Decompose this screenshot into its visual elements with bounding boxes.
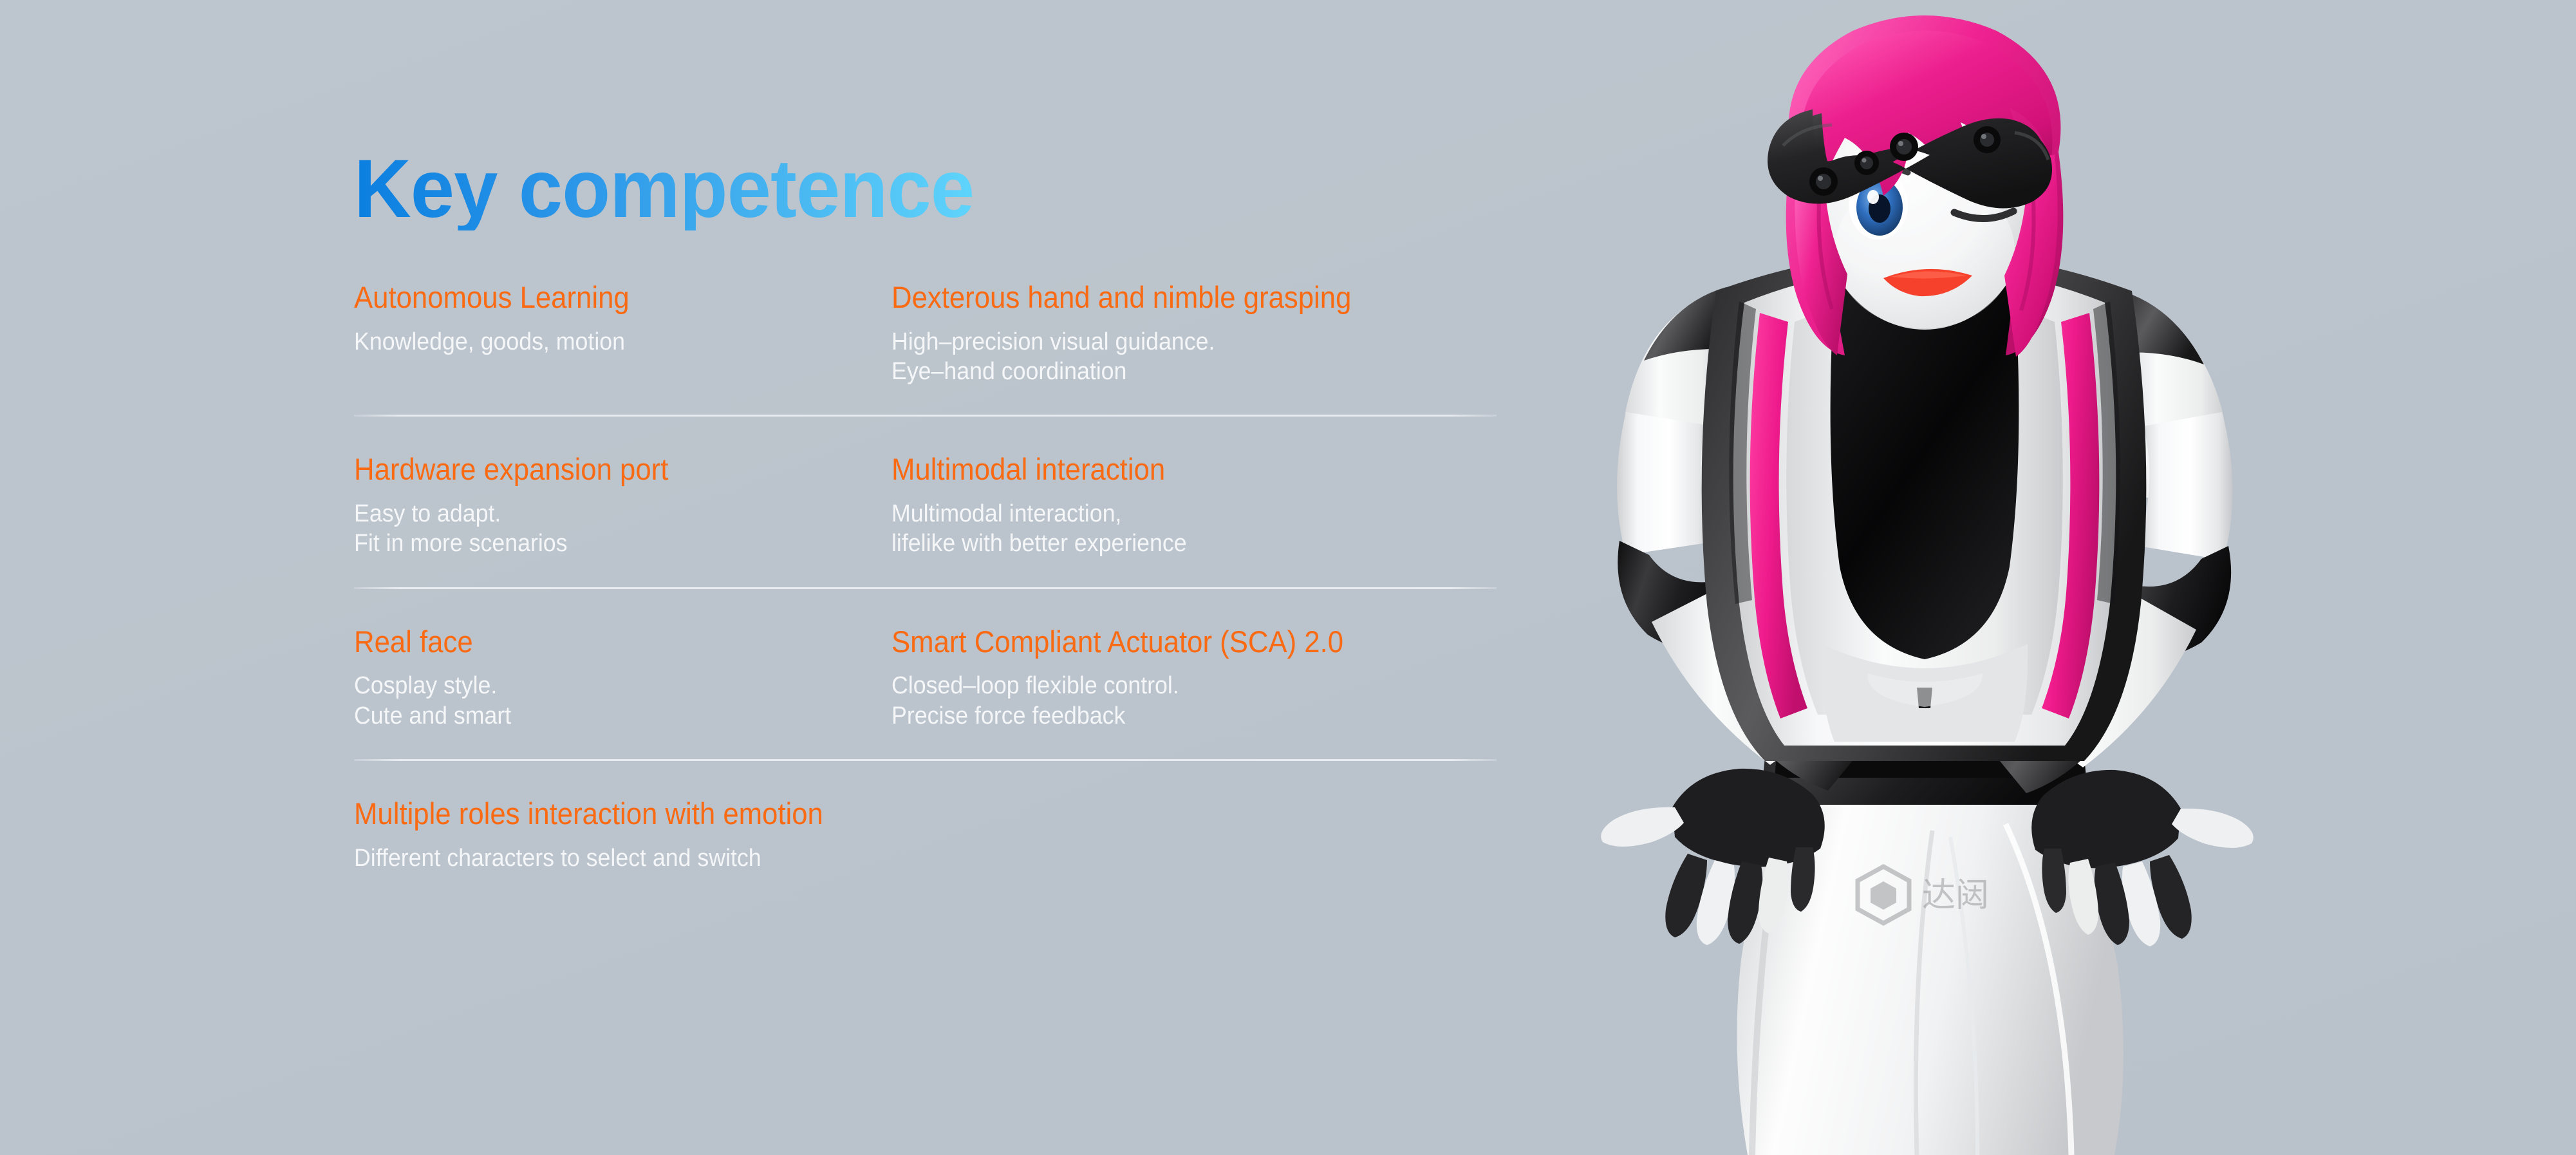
feature-description-line: Cosplay style.	[354, 671, 859, 700]
robot-eye-right-winking	[1952, 162, 2013, 218]
feature-description-line: Different characters to select and switc…	[354, 843, 1428, 873]
feature-description-line: Knowledge, goods, motion	[354, 327, 859, 357]
robot-hand-left	[1672, 769, 1825, 867]
feature-description-line: High–precision visual guidance.	[891, 327, 1461, 357]
robot-wink	[1954, 211, 2013, 219]
robot-pelvis	[1760, 702, 2089, 805]
feature-row: Autonomous Learning Knowledge, goods, mo…	[354, 281, 1497, 386]
feature-description: Multimodal interaction, lifelike with be…	[891, 499, 1461, 559]
feature-description: Knowledge, goods, motion	[354, 327, 859, 357]
feature-description-line: Precise force feedback	[891, 701, 1461, 731]
feature-description-line: Cute and smart	[354, 701, 859, 731]
slide-canvas: Key competence Autonomous Learning Knowl…	[0, 0, 2576, 1155]
feature-row: Hardware expansion port Easy to adapt. F…	[354, 453, 1497, 558]
feature-description-line: lifelike with better experience	[891, 529, 1461, 558]
robot-hair-front	[1801, 30, 2053, 196]
feature-description-line: Easy to adapt.	[354, 499, 859, 529]
robot-neck-collar	[1853, 252, 1997, 303]
feature-title: Smart Compliant Actuator (SCA) 2.0	[891, 625, 1454, 659]
robot-accent-stripe-left	[1750, 313, 1807, 718]
robot-fingers-left	[1665, 847, 1815, 945]
feature-title: Hardware expansion port	[354, 453, 854, 487]
page-title: Key competence	[354, 148, 974, 230]
spacer	[354, 589, 1513, 625]
brand-logo-text: 达闼	[1922, 876, 1989, 915]
robot-leg-highlight	[2006, 824, 2071, 1155]
robot-chest-cavity	[1831, 273, 2019, 659]
robot-belly-button	[1917, 688, 1932, 708]
robot-arm-left	[1601, 287, 1864, 945]
feature-description-line: Closed–loop flexible control.	[891, 671, 1461, 700]
robot-belly-plate	[1822, 644, 2028, 742]
feature-item-hardware-expansion-port[interactable]: Hardware expansion port Easy to adapt. F…	[354, 453, 891, 558]
robot-face	[1818, 77, 2031, 330]
robot-vest	[1733, 267, 2116, 746]
feature-description: Different characters to select and switc…	[354, 843, 1428, 873]
robot-hair-back	[1786, 15, 2064, 355]
feature-description-line: Fit in more scenarios	[354, 529, 859, 558]
camera-lenses	[1809, 126, 2001, 196]
visor-shape	[1788, 113, 2046, 195]
feature-item-smart-compliant-actuator[interactable]: Smart Compliant Actuator (SCA) 2.0 Close…	[891, 625, 1497, 731]
robot-fingers-right	[2042, 849, 2191, 946]
feature-item-real-face[interactable]: Real face Cosplay style. Cute and smart	[354, 625, 891, 731]
robot-hair-sidelock-left	[1795, 155, 1847, 355]
feature-description-line: Eye–hand coordination	[891, 357, 1461, 386]
spacer	[354, 731, 1513, 759]
robot-eye-left	[1845, 166, 1908, 239]
cube-logo-icon	[1858, 867, 1909, 923]
feature-title: Real face	[354, 625, 854, 659]
spacer	[354, 386, 1513, 415]
robot-leg-seam-2	[1950, 837, 1977, 1155]
spacer	[354, 417, 1513, 453]
feature-item-multiple-roles-interaction[interactable]: Multiple roles interaction with emotion …	[354, 797, 1497, 873]
robot-hair-sidelock-right	[2004, 155, 2058, 357]
robot-leg-seam	[1916, 831, 1932, 1155]
feature-description: High–precision visual guidance. Eye–hand…	[891, 327, 1461, 387]
robot-lips	[1883, 269, 1972, 296]
robot-lower-body	[1737, 792, 2123, 1155]
robot-leg-shadow-left	[1752, 811, 1782, 1155]
feature-item-dexterous-hand[interactable]: Dexterous hand and nimble grasping High–…	[891, 281, 1497, 386]
feature-row: Real face Cosplay style. Cute and smart …	[354, 625, 1497, 731]
robot-belt-highlight	[1782, 721, 2075, 734]
feature-item-autonomous-learning[interactable]: Autonomous Learning Knowledge, goods, mo…	[354, 281, 891, 386]
feature-item-multimodal-interaction[interactable]: Multimodal interaction Multimodal intera…	[891, 453, 1497, 558]
robot-accent-stripe-right	[2042, 313, 2099, 718]
feature-content-panel: Key competence Autonomous Learning Knowl…	[354, 148, 1513, 873]
robot-hand-right	[2031, 770, 2181, 869]
robot-sensor-headband	[1768, 109, 2052, 209]
feature-title: Multiple roles interaction with emotion	[354, 797, 1417, 831]
feature-title: Autonomous Learning	[354, 281, 854, 315]
spacer	[354, 559, 1513, 587]
feature-description: Closed–loop flexible control. Precise fo…	[891, 671, 1461, 731]
feature-title: Dexterous hand and nimble grasping	[891, 281, 1454, 315]
feature-title: Multimodal interaction	[891, 453, 1454, 487]
feature-row: Multiple roles interaction with emotion …	[354, 797, 1497, 873]
brand-logo: 达闼	[1858, 867, 1989, 923]
robot-belt	[1775, 756, 2082, 778]
robot-illustration: 达闼	[1500, 0, 2576, 1155]
feature-description: Cosplay style. Cute and smart	[354, 671, 859, 731]
feature-description: Easy to adapt. Fit in more scenarios	[354, 499, 859, 559]
robot-neck	[1865, 193, 1984, 288]
spacer	[354, 761, 1513, 797]
robot-arm-right	[1990, 290, 2254, 946]
feature-description-line: Multimodal interaction,	[891, 499, 1461, 529]
robot-torso-shell	[1702, 252, 2147, 761]
